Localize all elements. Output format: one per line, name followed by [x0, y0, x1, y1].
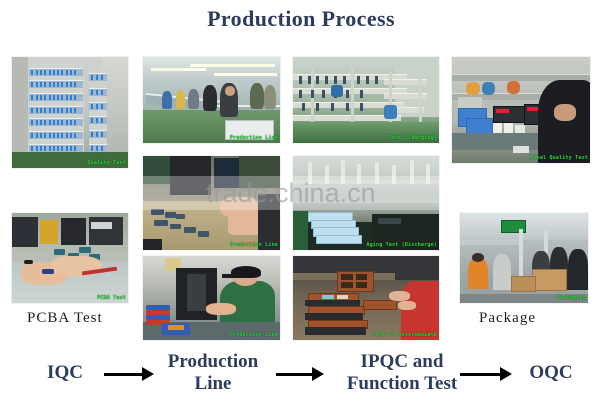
photo-scene [12, 213, 128, 303]
photo-scene [460, 213, 588, 303]
photo-scene [12, 57, 128, 168]
caption-pcba-test: PCBA Test [27, 310, 103, 327]
production-process-poster: Production Process [0, 0, 602, 412]
flow-arrow-2 [276, 366, 324, 382]
photo-pcba-production-line[interactable]: Production Line [143, 156, 280, 250]
photo-packaging[interactable]: Packaging [460, 213, 588, 303]
flow-arrow-3 [460, 366, 512, 382]
photo-tag: PCBA Test [97, 295, 126, 302]
photo-pcba-test[interactable]: PCBA Test [12, 213, 128, 303]
photo-tag: Production Line [230, 242, 278, 249]
flow-arrow-1 [104, 366, 154, 382]
photo-assembly-production-line[interactable]: Production Line [143, 256, 280, 340]
photo-production-line-hall[interactable]: Production Line [143, 57, 280, 143]
photo-tag: Production Line [230, 135, 278, 142]
photo-scene [143, 57, 280, 143]
photo-scene [293, 256, 439, 340]
photo-scene [143, 256, 280, 340]
page-title: Production Process [0, 6, 602, 32]
photo-battery-capacity-test[interactable]: Quality Test [12, 57, 128, 168]
photo-tag: Aging Test (Discharge) [366, 242, 437, 249]
flow-step-ipqc-function-test[interactable]: IPQC and Function Test [322, 351, 482, 395]
flow-step-production-line[interactable]: Production Line [154, 351, 272, 395]
photo-final-quality-test[interactable]: Final Quality Test [452, 57, 590, 163]
photo-tag: Final Quality Test [530, 155, 588, 162]
caption-package: Package [479, 310, 536, 327]
photo-aging-test-discharge[interactable]: Aging Test (Discharge) [293, 156, 439, 250]
photo-scene [293, 156, 439, 250]
photo-intermediate-test[interactable]: Test of Intermediate [293, 256, 439, 340]
photo-scene [293, 57, 439, 143]
photo-tag: Test (Charging) [389, 135, 437, 142]
flow-step-iqc[interactable]: IQC [30, 362, 100, 384]
photo-tag: Production Line [230, 332, 278, 339]
photo-tag: Test of Intermediate [373, 332, 437, 339]
flow-step-oqc[interactable]: OQC [516, 362, 586, 384]
photo-tag: Quality Test [87, 160, 126, 167]
process-flow: IQC Production Line IPQC and Function Te… [0, 340, 602, 412]
photo-charging-test[interactable]: Test (Charging) [293, 57, 439, 143]
photo-scene [143, 156, 280, 250]
photo-tag: Packaging [557, 295, 586, 302]
photo-scene [452, 57, 590, 163]
